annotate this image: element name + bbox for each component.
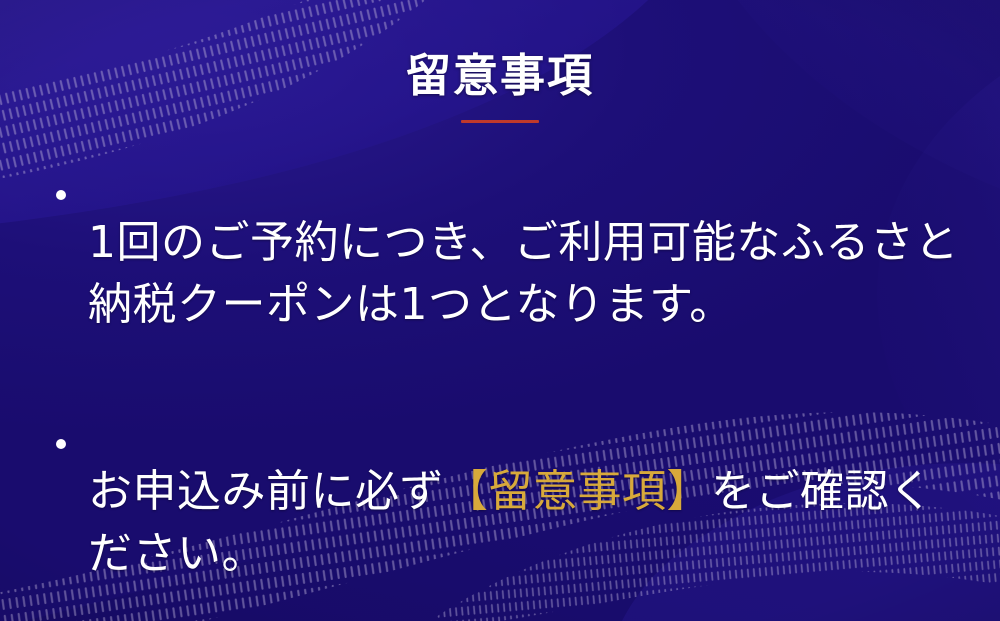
note-text: お申込み前に必ず【留意事項】をご確認ください。 bbox=[88, 461, 960, 586]
bullet-icon bbox=[56, 190, 66, 200]
note-text-highlight: 【留意事項】 bbox=[444, 466, 711, 517]
note-text-prefix: お申込み前に必ず bbox=[88, 466, 444, 517]
title-block: 留意事項 bbox=[0, 52, 1000, 123]
bullet-icon bbox=[56, 439, 66, 449]
title-underline-rule bbox=[461, 120, 539, 123]
note-text-prefix: 1回のご予約につき、ご利用可能なふるさと納税クーポンは1つとなります。 bbox=[88, 217, 959, 330]
notes-list: 1回のご予約につき、ご利用可能なふるさと納税クーポンは1つとなります。 お申込み… bbox=[48, 168, 960, 621]
list-item: お申込み前に必ず【留意事項】をご確認ください。 bbox=[48, 417, 960, 621]
list-item: 1回のご予約につき、ご利用可能なふるさと納税クーポンは1つとなります。 bbox=[48, 168, 960, 381]
note-text: 1回のご予約につき、ご利用可能なふるさと納税クーポンは1つとなります。 bbox=[88, 212, 960, 337]
page-title: 留意事項 bbox=[0, 52, 1000, 99]
notice-banner: 留意事項 1回のご予約につき、ご利用可能なふるさと納税クーポンは1つとなります。… bbox=[0, 0, 1000, 621]
banner-content: 留意事項 1回のご予約につき、ご利用可能なふるさと納税クーポンは1つとなります。… bbox=[0, 0, 1000, 621]
